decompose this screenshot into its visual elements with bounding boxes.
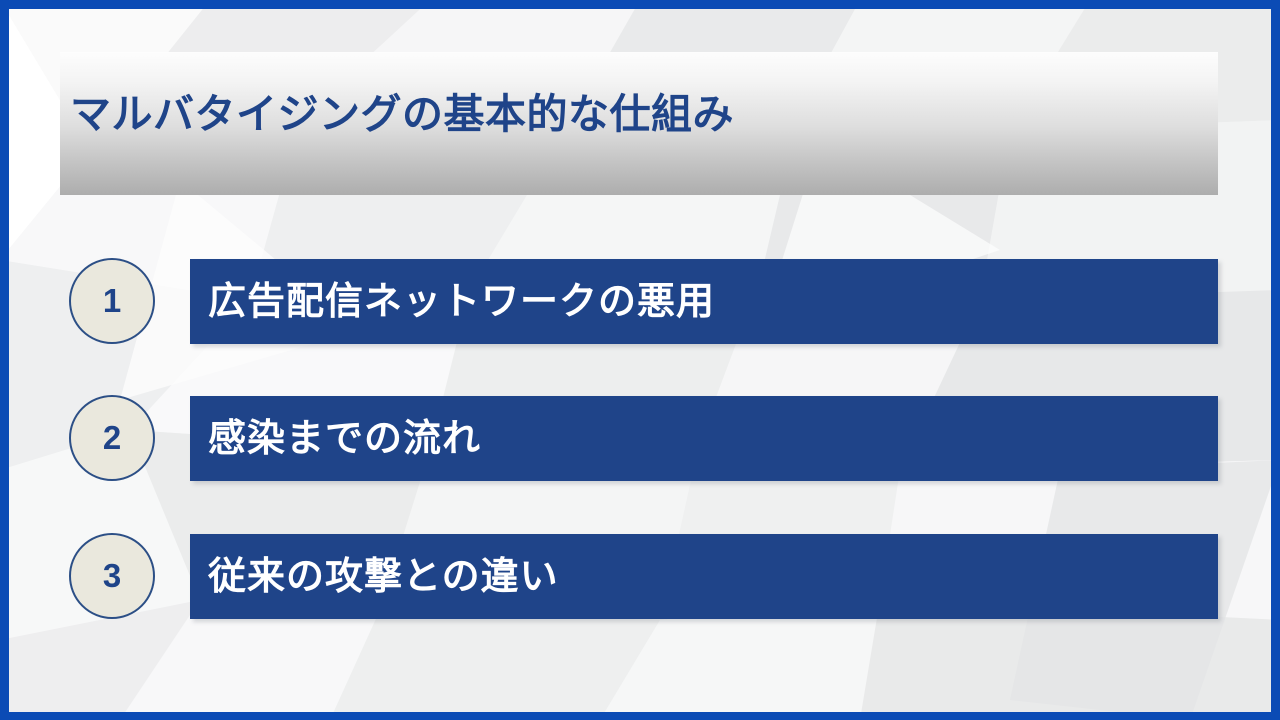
- list-item[interactable]: 1 広告配信ネットワークの悪用: [62, 256, 1218, 346]
- item-number-badge: 3: [69, 533, 155, 619]
- item-bar[interactable]: 感染までの流れ: [190, 396, 1218, 481]
- item-bar[interactable]: 従来の攻撃との違い: [190, 534, 1218, 619]
- list-item[interactable]: 2 感染までの流れ: [62, 393, 1218, 483]
- frame-border-bottom: [0, 712, 1280, 720]
- item-number-label: 1: [103, 284, 121, 317]
- item-number-badge: 2: [69, 395, 155, 481]
- slide-canvas: マルバタイジングの基本的な仕組み 1 広告配信ネットワークの悪用 2 感染までの…: [0, 0, 1280, 720]
- item-bar[interactable]: 広告配信ネットワークの悪用: [190, 259, 1218, 344]
- list-item[interactable]: 3 従来の攻撃との違い: [62, 531, 1218, 621]
- frame-border-top: [0, 0, 1280, 9]
- page-title: マルバタイジングの基本的な仕組み: [70, 92, 1190, 137]
- item-bar-label: 感染までの流れ: [190, 420, 481, 458]
- item-number-label: 2: [103, 421, 121, 454]
- item-number-badge: 1: [69, 258, 155, 344]
- frame-border-left: [0, 0, 9, 720]
- item-bar-label: 従来の攻撃との違い: [190, 558, 559, 596]
- frame-border-right: [1271, 0, 1280, 720]
- item-bar-label: 広告配信ネットワークの悪用: [190, 283, 715, 321]
- item-number-label: 3: [103, 559, 121, 592]
